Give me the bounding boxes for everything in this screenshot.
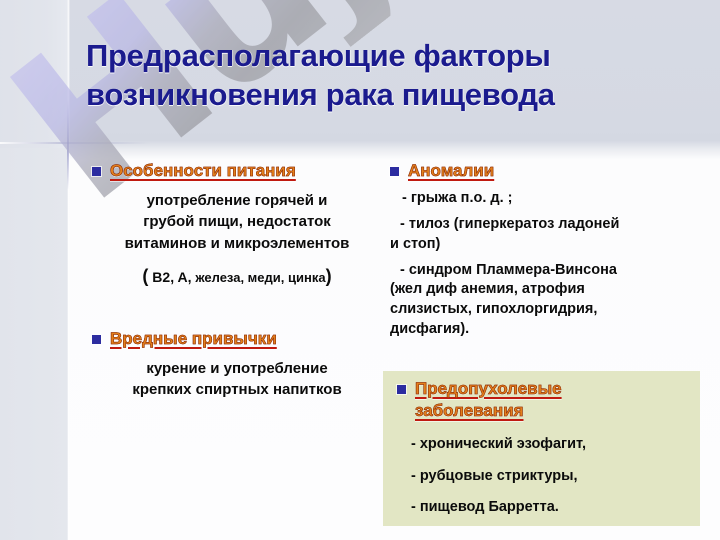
precancer-item-3: - пищевод Барретта. [397, 499, 692, 516]
block-habits-heading: Вредные привычки [110, 328, 277, 350]
block-habits: Вредные привычки курение и употребление … [92, 328, 382, 401]
precancer-heading-line-1: Предопухолевые [415, 379, 562, 398]
block-nutrition-heading: Особенности питания [110, 160, 296, 182]
block-anomalies-heading: Аномалии [408, 160, 494, 182]
square-bullet-icon [390, 167, 399, 176]
background-vertical-highlight [67, 0, 70, 540]
vitamin-minerals: железа, меди, цинка [195, 270, 325, 285]
paren-close: ) [326, 266, 332, 286]
right-column: Аномалии - грыжа п.о. д. ; - тилоз (гипе… [390, 160, 700, 339]
block-nutrition-line-2: грубой пищи, недостаток [92, 211, 382, 232]
precancer-list: - хронический эзофагит, - рубцовые стрик… [397, 436, 692, 516]
block-habits-line-2: крепких спиртных напитков [92, 379, 382, 400]
block-nutrition: Особенности питания употребление горячей… [92, 160, 382, 290]
block-anomalies-heading-row: Аномалии [390, 160, 700, 182]
block-habits-body: курение и употребление крепких спиртных … [92, 358, 382, 401]
block-anomalies: Аномалии - грыжа п.о. д. ; - тилоз (гипе… [390, 160, 700, 339]
anomalies-item-3-cont-1: (жел диф анемия, атрофия [390, 280, 700, 299]
anomalies-item-1: - грыжа п.о. д. ; [390, 189, 700, 208]
crosshair-vertical-decoration [67, 100, 69, 190]
precancer-heading: Предопухолевые заболевания [415, 378, 562, 422]
anomalies-item-2: - тилоз (гиперкератоз ладоней [390, 215, 700, 234]
anomalies-item-3-cont-3: дисфагия). [390, 320, 700, 339]
slide-canvas: Hujat24 Предрасполагающие факторы возник… [0, 0, 720, 540]
square-bullet-icon [397, 385, 406, 394]
precancer-heading-row: Предопухолевые заболевания [397, 378, 692, 422]
block-anomalies-body: - грыжа п.о. д. ; - тилоз (гиперкератоз … [390, 189, 700, 339]
precancer-content: Предопухолевые заболевания - хронический… [397, 378, 692, 516]
precancer-heading-line-2: заболевания [415, 401, 524, 420]
page-title-line-1: Предрасполагающие факторы [86, 36, 686, 75]
block-nutrition-line-3: витаминов и микроэлементов [92, 233, 382, 254]
crosshair-horizontal-decoration [0, 142, 150, 144]
anomalies-item-2-cont: и стоп) [390, 235, 700, 254]
page-title: Предрасполагающие факторы возникновения … [86, 36, 686, 114]
block-nutrition-line-1: употребление горячей и [92, 190, 382, 211]
vitamin-codes: B2, A, [148, 269, 195, 285]
precancer-item-2: - рубцовые стриктуры, [397, 468, 692, 485]
page-title-line-2: возникновения рака пищевода [86, 75, 686, 114]
block-nutrition-heading-row: Особенности питания [92, 160, 382, 182]
block-nutrition-vitamins-line: ( B2, A, железа, меди, цинка) [92, 264, 382, 290]
square-bullet-icon [92, 335, 101, 344]
precancer-item-1: - хронический эзофагит, [397, 436, 692, 453]
block-habits-heading-row: Вредные привычки [92, 328, 382, 350]
square-bullet-icon [92, 167, 101, 176]
anomalies-item-3: - синдром Пламмера-Винсона [390, 261, 700, 280]
block-habits-line-1: курение и употребление [92, 358, 382, 379]
anomalies-item-3-cont-2: слизистых, гипохлоргидрия, [390, 300, 700, 319]
block-nutrition-body: употребление горячей и грубой пищи, недо… [92, 190, 382, 289]
background-left-band-lower [0, 148, 68, 540]
left-column: Особенности питания употребление горячей… [92, 160, 382, 400]
